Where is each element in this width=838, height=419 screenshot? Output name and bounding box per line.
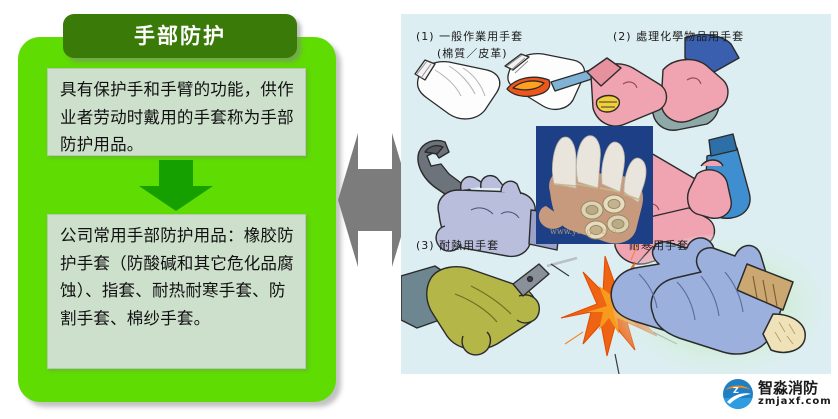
page-title: 手部防护 xyxy=(134,26,226,47)
caption-general-work-gloves: (1) 一般作業用手套 xyxy=(416,28,523,44)
glove-types-illustration-panel: (1) 一般作業用手套 (棉質／皮革) (2) 處理化學物品用手套 (3) 耐熱… xyxy=(401,14,831,374)
logo-text: 智淼消防 zmjaxf.com xyxy=(758,381,832,407)
panel-header-pill: 手部防护 xyxy=(63,14,297,58)
definition-text: 具有保护手和手臂的功能，供作业者劳动时戴用的手套称为手部防护用品。 xyxy=(60,76,295,159)
photo-watermark: www.yongdebao. xyxy=(550,227,619,236)
products-textbox: 公司常用手部防护用品：橡胶防护手套（防酸碱和其它危化品腐蚀）、指套、耐热耐寒手套… xyxy=(47,214,306,369)
caption-heat-resistant-gloves: (3) 耐熱用手套 xyxy=(416,237,499,253)
products-text: 公司常用手部防护用品：橡胶防护手套（防酸碱和其它危化品腐蚀）、指套、耐热耐寒手套… xyxy=(60,222,295,333)
caption-general-work-gloves-material: (棉質／皮革) xyxy=(437,45,508,61)
svg-text:Z: Z xyxy=(733,386,739,395)
logo-name-en: zmjaxf.com xyxy=(758,397,832,407)
logo-name-cn: 智淼消防 xyxy=(758,381,832,396)
definition-textbox: 具有保护手和手臂的功能，供作业者劳动时戴用的手套称为手部防护用品。 xyxy=(47,68,306,156)
finger-cots-photo: www.yongdebao. xyxy=(536,126,653,244)
slide-canvas: 手部防护 具有保护手和手臂的功能，供作业者劳动时戴用的手套称为手部防护用品。 公… xyxy=(0,0,838,419)
site-logo[interactable]: Z 智淼消防 zmjaxf.com xyxy=(722,376,834,412)
logo-mark-icon: Z xyxy=(722,378,754,410)
down-arrow-icon xyxy=(137,160,215,212)
caption-chemical-handling-gloves: (2) 處理化學物品用手套 xyxy=(613,28,744,44)
